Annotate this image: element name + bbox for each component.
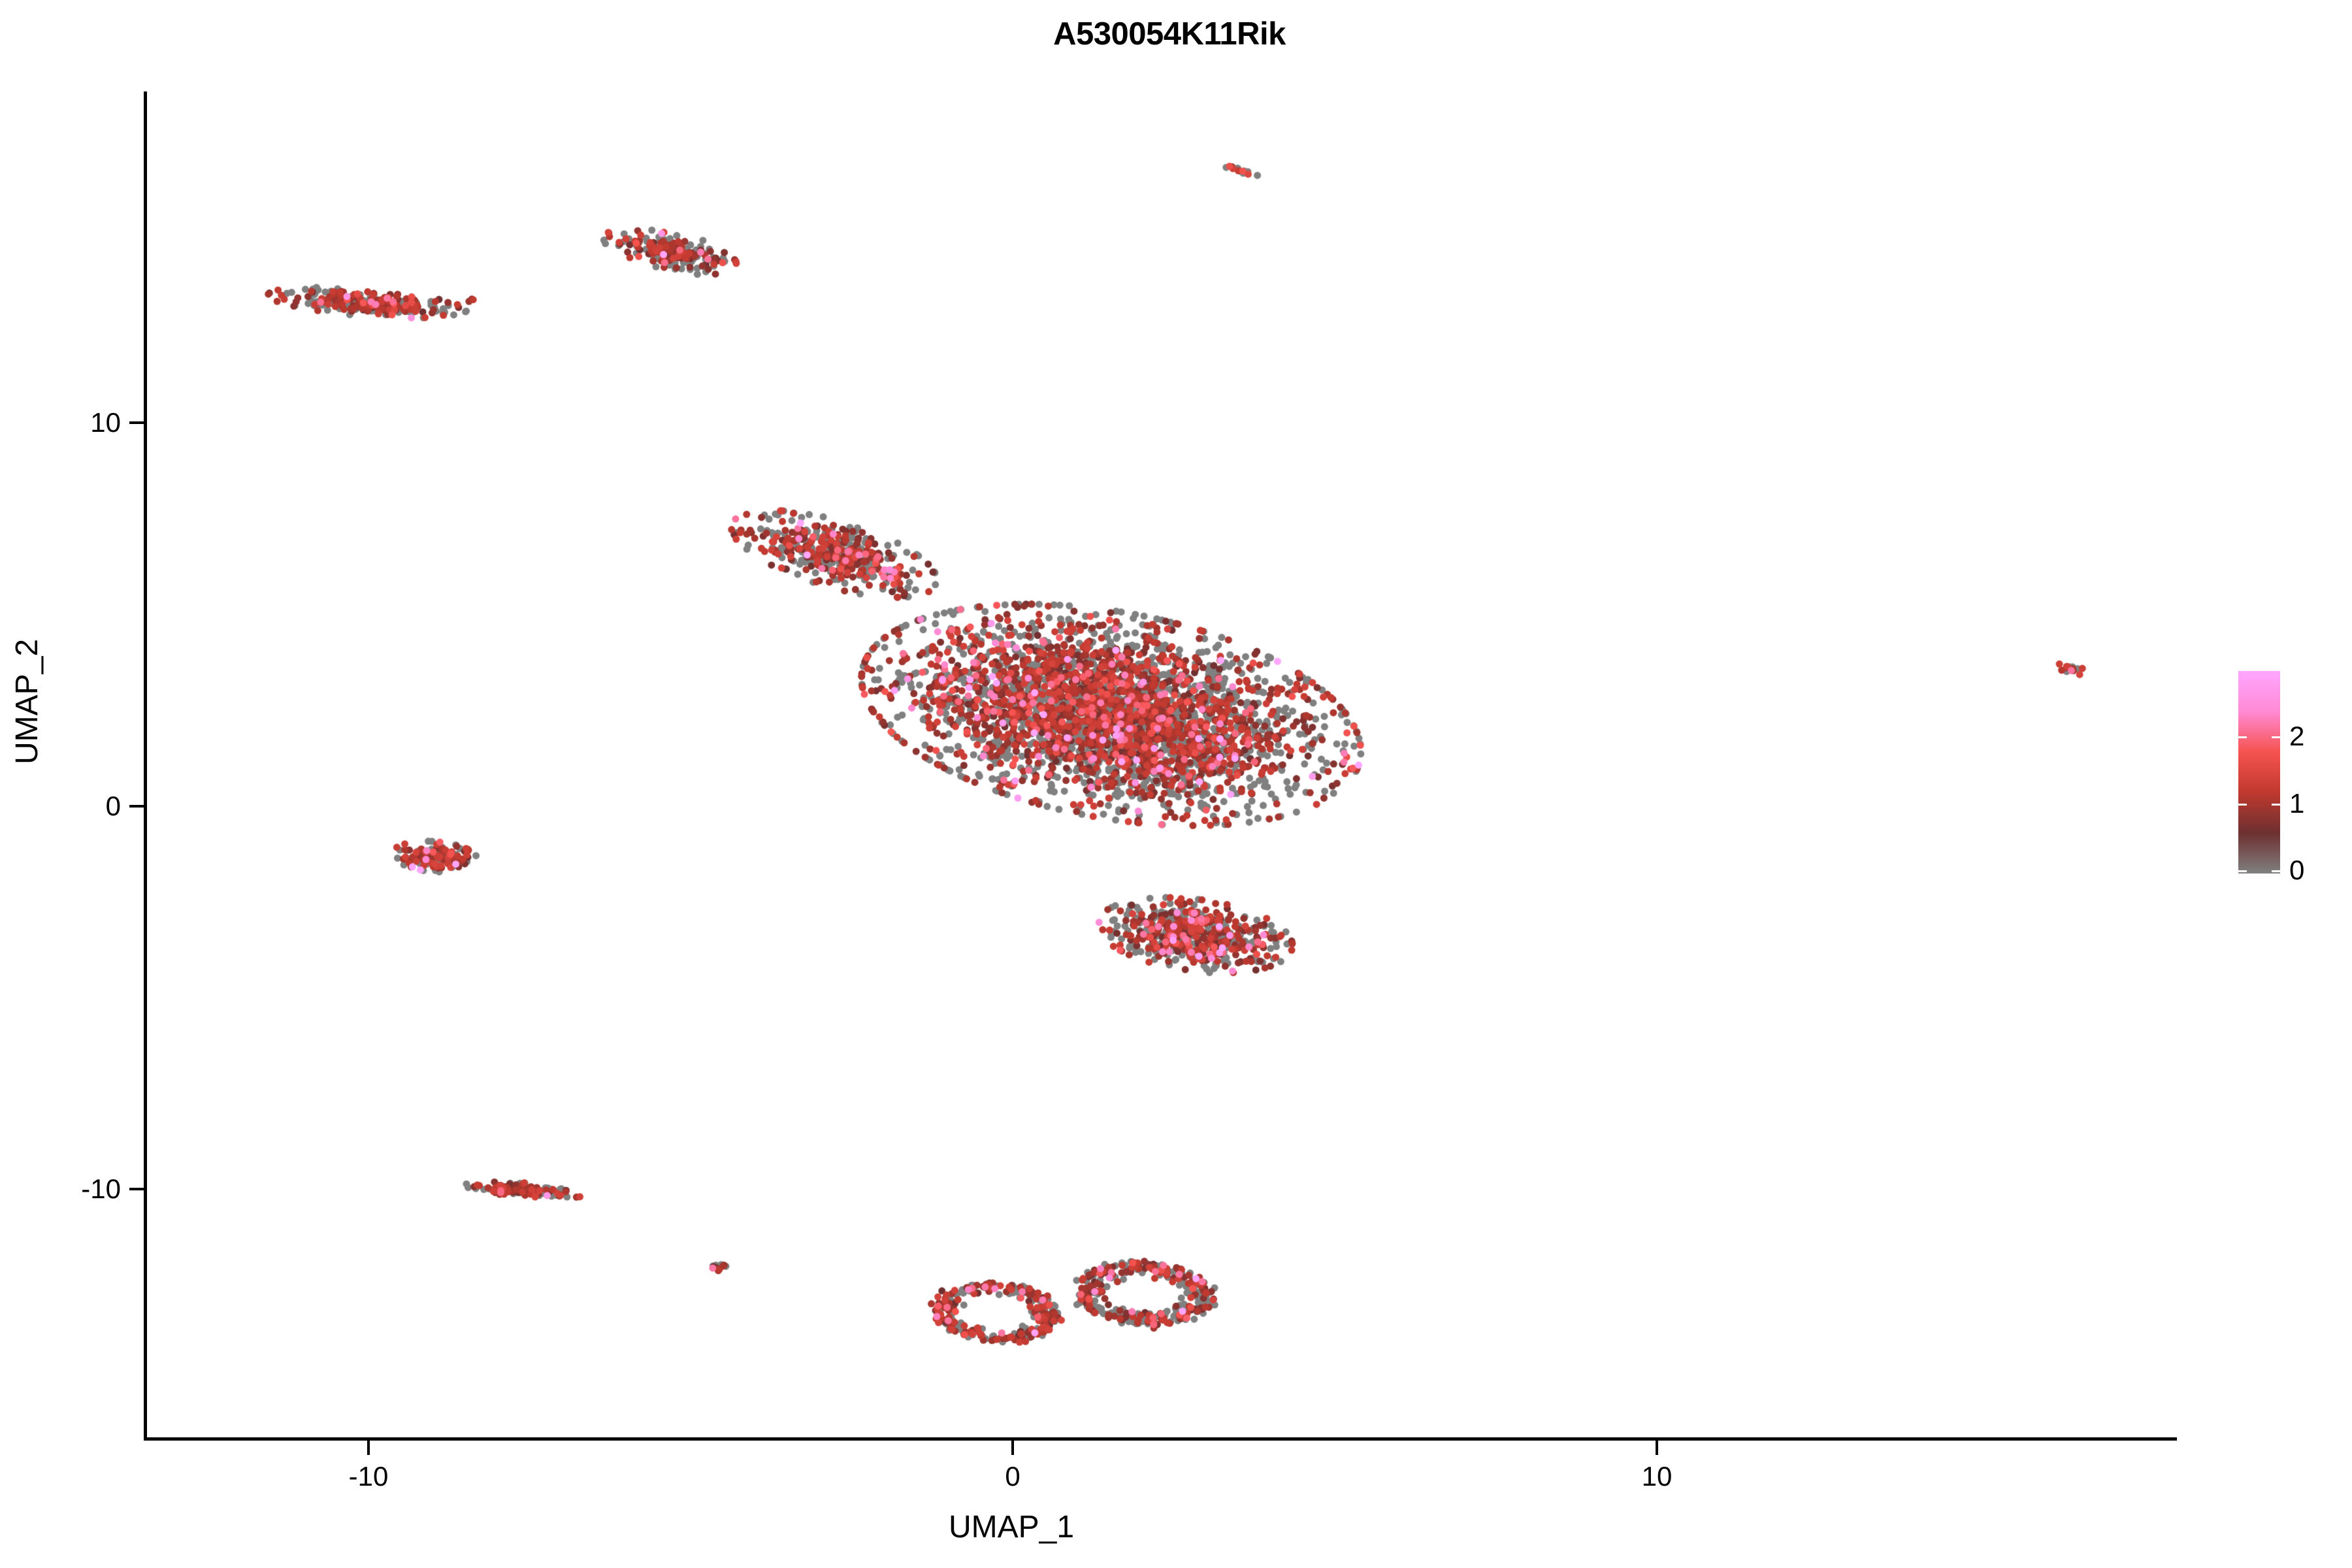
colorbar-tick-label: 2 bbox=[2289, 721, 2304, 752]
x-tick-label: 10 bbox=[1642, 1461, 1673, 1492]
x-tick-mark bbox=[367, 1441, 370, 1455]
y-tick-label: -10 bbox=[81, 1173, 121, 1205]
y-tick-mark bbox=[129, 805, 144, 808]
scatter-points-layer bbox=[145, 91, 2177, 1439]
x-axis-line bbox=[144, 1437, 2177, 1441]
y-axis-title: UMAP_2 bbox=[9, 639, 45, 764]
y-tick-mark bbox=[129, 1188, 144, 1190]
x-tick-label: -10 bbox=[349, 1461, 389, 1492]
x-tick-label: 0 bbox=[1005, 1461, 1020, 1492]
y-tick-label: 0 bbox=[106, 791, 121, 822]
colorbar-gradient bbox=[2238, 671, 2280, 874]
figure-root: A530054K11Rik -10 0 10 10 0 -10 UMAP_1 U… bbox=[0, 0, 2352, 1568]
colorbar-tick bbox=[2238, 736, 2247, 738]
colorbar-tick bbox=[2272, 736, 2280, 738]
colorbar-tick-label: 0 bbox=[2289, 855, 2304, 886]
y-tick-label: 10 bbox=[90, 407, 121, 438]
scatter-plot-panel bbox=[145, 91, 2177, 1439]
colorbar-tick bbox=[2238, 804, 2247, 806]
legend-colorbar: 2 1 0 bbox=[2238, 671, 2280, 874]
x-tick-mark bbox=[1656, 1441, 1658, 1455]
x-axis-title: UMAP_1 bbox=[949, 1509, 1074, 1545]
y-axis-line bbox=[144, 91, 147, 1441]
colorbar-tick bbox=[2272, 870, 2280, 872]
colorbar-tick bbox=[2238, 870, 2247, 872]
y-tick-mark bbox=[129, 421, 144, 424]
x-tick-mark bbox=[1011, 1441, 1014, 1455]
page-title: A530054K11Rik bbox=[0, 16, 2339, 52]
colorbar-tick-label: 1 bbox=[2289, 788, 2304, 819]
colorbar-tick bbox=[2272, 804, 2280, 806]
